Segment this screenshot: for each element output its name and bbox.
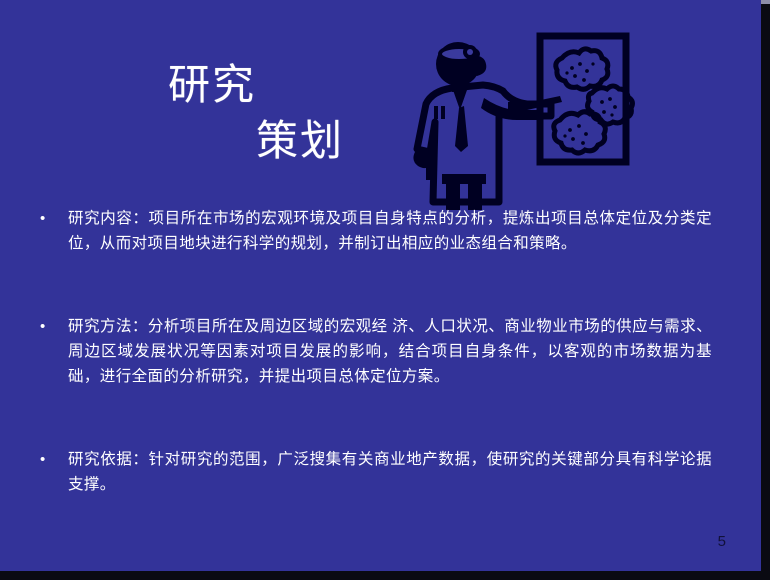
slide-frame-right-edge — [761, 0, 770, 580]
slide-frame-bottom-edge — [0, 571, 770, 580]
slide-body: • 研究内容：项目所在市场的宏观环境及项目自身特点的分析，提炼出项目总体定位及分… — [26, 206, 726, 497]
bullet-item-1: • 研究内容：项目所在市场的宏观环境及项目自身特点的分析，提炼出项目总体定位及分… — [26, 206, 726, 256]
bullet-marker-icon: • — [26, 206, 68, 231]
bullet-item-2: • 研究方法：分析项目所在及周边区域的宏观经 济、人口状况、商业物业市场的供应与… — [26, 314, 726, 389]
page-number: 5 — [718, 533, 726, 550]
presentation-slide: 研究 策划 — [0, 0, 770, 580]
bullet-marker-icon: • — [26, 314, 68, 339]
bullet-text-1: 研究内容：项目所在市场的宏观环境及项目自身特点的分析，提炼出项目总体定位及分类定… — [68, 206, 726, 256]
doctor-presenting-chart-image — [412, 18, 662, 210]
bullet-text-2: 研究方法：分析项目所在及周边区域的宏观经 济、人口状况、商业物业市场的供应与需求… — [68, 314, 726, 389]
bullet-text-3: 研究依据：针对研究的范围，广泛搜集有关商业地产数据，使研究的关键部分具有科学论据… — [68, 447, 726, 497]
bullet-marker-icon: • — [26, 447, 68, 472]
slide-frame-corner — [761, 0, 770, 4]
bullet-item-3: • 研究依据：针对研究的范围，广泛搜集有关商业地产数据，使研究的关键部分具有科学… — [26, 447, 726, 497]
